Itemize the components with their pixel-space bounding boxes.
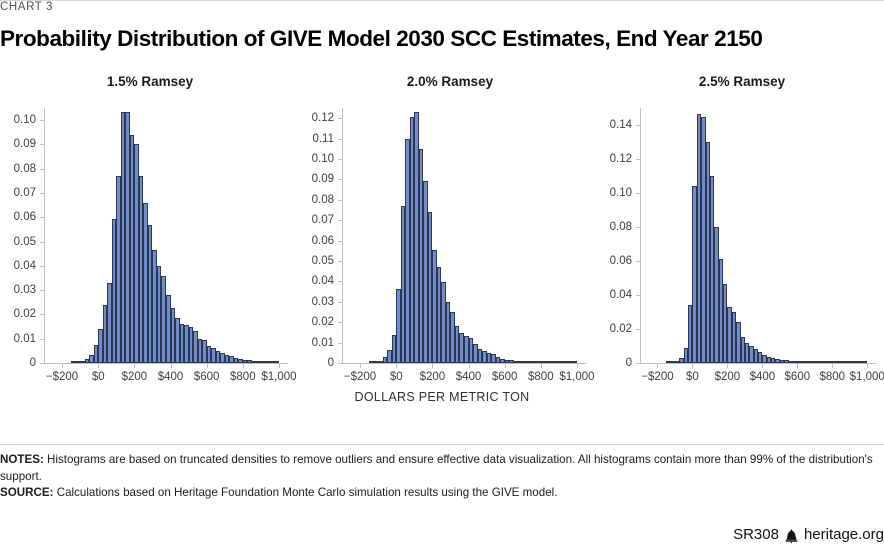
y-tick-label: 0.12 <box>610 153 632 165</box>
x-tick-label: $600 <box>492 371 518 383</box>
y-tick-mark <box>636 363 640 364</box>
x-tick-mark <box>797 364 798 368</box>
x-tick-mark <box>727 364 728 368</box>
y-tick-label: 0.09 <box>14 138 36 150</box>
y-tick-label: 0.10 <box>14 114 36 126</box>
x-tick-label: $0 <box>686 371 699 383</box>
x-tick-mark <box>469 364 470 368</box>
liberty-bell-icon <box>785 529 798 543</box>
x-tick-label: −$200 <box>46 371 78 383</box>
x-tick-label: $400 <box>158 371 184 383</box>
bars-layer <box>44 108 288 363</box>
y-tick-label: 0.11 <box>312 133 334 145</box>
panels-container: 1.5% Ramsey00.010.020.030.040.050.060.07… <box>0 74 884 394</box>
x-tick-mark <box>832 364 833 368</box>
x-tick-label: $400 <box>750 371 776 383</box>
page-title: Probability Distribution of GIVE Model 2… <box>0 26 762 52</box>
x-tick-mark <box>505 364 506 368</box>
chart-kicker: CHART 3 <box>0 1 53 13</box>
plot-area: 00.010.020.030.040.050.060.070.080.090.1… <box>44 108 288 363</box>
y-tick-label: 0.01 <box>312 337 334 349</box>
x-tick-label: $200 <box>715 371 741 383</box>
x-tick-mark <box>171 364 172 368</box>
plot-area: 00.020.040.060.080.100.120.14−$200$0$200… <box>640 108 876 363</box>
y-tick-label: 0.04 <box>14 260 36 272</box>
y-tick-label: 0.01 <box>14 333 36 345</box>
panel-title: 2.0% Ramsey <box>300 74 600 89</box>
panel-title: 2.5% Ramsey <box>600 74 884 89</box>
source-text: Calculations based on Heritage Foundatio… <box>57 486 558 499</box>
report-id: SR308 <box>733 526 779 543</box>
y-tick-label: 0.08 <box>14 163 36 175</box>
x-tick-label: $0 <box>390 371 403 383</box>
bars-layer <box>342 108 586 363</box>
x-tick-label: $1,000 <box>559 371 594 383</box>
x-tick-mark <box>207 364 208 368</box>
y-tick-label: 0.08 <box>610 221 632 233</box>
y-tick-label: 0.05 <box>14 236 36 248</box>
x-tick-mark <box>243 364 244 368</box>
x-tick-mark <box>657 364 658 368</box>
x-tick-label: $1,000 <box>261 371 296 383</box>
histogram-bar <box>274 361 279 363</box>
x-tick-mark <box>867 364 868 368</box>
y-tick-label: 0.10 <box>610 187 632 199</box>
y-tick-label: 0.08 <box>312 194 334 206</box>
notes-label: NOTES: <box>0 453 44 466</box>
x-tick-label: $200 <box>122 371 148 383</box>
x-tick-mark <box>541 364 542 368</box>
bars-layer <box>640 108 876 363</box>
histogram-panel-2: 2.0% Ramsey00.010.020.030.040.050.060.07… <box>300 74 600 394</box>
x-axis-line <box>640 363 876 364</box>
x-axis-line <box>342 363 586 364</box>
plot-area: 00.010.020.030.040.050.060.070.080.090.1… <box>342 108 586 363</box>
histogram-panel-3: 2.5% Ramsey00.020.040.060.080.100.120.14… <box>600 74 884 394</box>
histogram-bar <box>863 361 867 363</box>
x-tick-label: $200 <box>420 371 446 383</box>
x-tick-label: −$200 <box>641 371 673 383</box>
x-tick-mark <box>360 364 361 368</box>
y-tick-label: 0 <box>328 357 334 369</box>
x-tick-mark <box>762 364 763 368</box>
y-tick-label: 0 <box>30 357 36 369</box>
y-tick-label: 0.06 <box>312 235 334 247</box>
x-tick-mark <box>98 364 99 368</box>
y-tick-label: 0.10 <box>312 153 334 165</box>
footer-divider <box>0 444 884 445</box>
y-tick-label: 0.02 <box>312 316 334 328</box>
y-tick-label: 0.04 <box>610 289 632 301</box>
x-tick-mark <box>577 364 578 368</box>
x-tick-mark <box>432 364 433 368</box>
y-tick-label: 0.06 <box>14 211 36 223</box>
x-tick-label: $800 <box>230 371 256 383</box>
y-tick-label: 0.14 <box>610 119 632 131</box>
footer: NOTES: Histograms are based on truncated… <box>0 452 884 502</box>
x-tick-label: $1,000 <box>850 371 884 383</box>
site-label: heritage.org <box>804 526 884 543</box>
x-tick-mark <box>396 364 397 368</box>
chart-page: CHART 3 Probability Distribution of GIVE… <box>0 0 884 554</box>
x-axis-line <box>44 363 288 364</box>
brand-block: SR308 heritage.org <box>733 526 884 543</box>
x-tick-label: $800 <box>528 371 554 383</box>
y-tick-label: 0.04 <box>312 275 334 287</box>
x-tick-label: $0 <box>92 371 105 383</box>
y-tick-label: 0 <box>626 357 632 369</box>
x-tick-mark <box>62 364 63 368</box>
source-label: SOURCE: <box>0 486 53 499</box>
x-tick-label: −$200 <box>344 371 376 383</box>
y-tick-mark <box>338 363 342 364</box>
x-tick-label: $600 <box>785 371 811 383</box>
y-tick-label: 0.12 <box>312 112 334 124</box>
x-tick-label: $800 <box>819 371 845 383</box>
y-tick-label: 0.06 <box>610 255 632 267</box>
histogram-bar <box>572 361 577 363</box>
y-tick-mark <box>40 363 44 364</box>
y-tick-label: 0.03 <box>312 296 334 308</box>
histogram-panel-1: 1.5% Ramsey00.010.020.030.040.050.060.07… <box>0 74 300 394</box>
y-tick-label: 0.07 <box>312 214 334 226</box>
source-line: SOURCE: Calculations based on Heritage F… <box>0 485 884 502</box>
x-tick-mark <box>279 364 280 368</box>
y-tick-label: 0.07 <box>14 187 36 199</box>
notes-line: NOTES: Histograms are based on truncated… <box>0 452 884 485</box>
y-tick-label: 0.02 <box>610 323 632 335</box>
top-divider <box>0 0 884 1</box>
x-tick-mark <box>692 364 693 368</box>
y-tick-label: 0.03 <box>14 284 36 296</box>
y-tick-label: 0.02 <box>14 308 36 320</box>
x-tick-mark <box>134 364 135 368</box>
x-axis-caption: DOLLARS PER METRIC TON <box>0 390 884 404</box>
y-tick-label: 0.09 <box>312 173 334 185</box>
x-tick-label: $600 <box>194 371 220 383</box>
notes-text: Histograms are based on truncated densit… <box>0 453 873 483</box>
y-tick-label: 0.05 <box>312 255 334 267</box>
x-tick-label: $400 <box>456 371 482 383</box>
panel-title: 1.5% Ramsey <box>0 74 300 89</box>
